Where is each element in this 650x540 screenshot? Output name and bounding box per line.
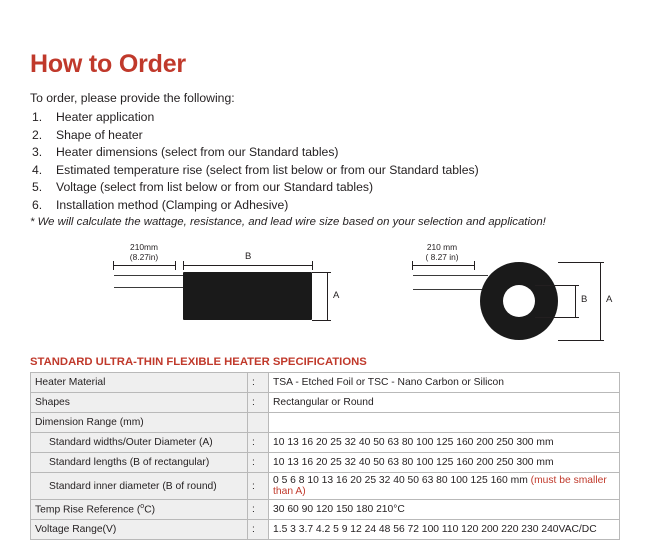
- left-lead-wire-bottom: [114, 287, 184, 288]
- right-lead-wire-bottom: [413, 289, 488, 290]
- row-label-text: Temp Rise Reference (: [35, 505, 140, 516]
- right-lead-dimension-mm: 210 mm: [427, 242, 457, 252]
- table-row: Standard inner diameter (B of round) : 0…: [31, 473, 620, 500]
- list-item-number: 4.: [32, 162, 48, 179]
- left-lead-dimension: 210mm (8.27in): [108, 242, 180, 262]
- list-item-label: Estimated temperature rise (select from …: [56, 163, 479, 177]
- row-colon: :: [248, 433, 269, 453]
- row-label: Standard inner diameter (B of round): [31, 473, 248, 500]
- document-page: How to Order To order, please provide th…: [0, 0, 650, 523]
- list-item-number: 1.: [32, 109, 48, 126]
- left-lead-dimension-in: (8.27in): [130, 252, 158, 262]
- table-row: Standard widths/Outer Diameter (A) : 10 …: [31, 433, 620, 453]
- right-lead-dim-tick-start: [412, 261, 413, 270]
- right-inner-letter-b: B: [581, 294, 587, 305]
- right-lead-dim-tick-end: [474, 261, 475, 270]
- right-lead-dimension-in: ( 8.27 in): [425, 252, 458, 262]
- row-label-tail: C): [144, 505, 155, 516]
- left-b-dim-line: [183, 265, 312, 266]
- row-value-text: 0 5 6 8 10 13 16 20 25 32 40 50 63 80 10…: [273, 475, 528, 486]
- left-a-extension-top: [312, 272, 330, 273]
- row-label: Standard lengths (B of rectangular): [31, 453, 248, 473]
- row-value: 10 13 16 20 25 32 40 50 63 80 100 125 16…: [269, 433, 620, 453]
- right-b-extension-top: [535, 285, 577, 286]
- spec-section-title: STANDARD ULTRA-THIN FLEXIBLE HEATER SPEC…: [30, 356, 620, 368]
- heater-diagram: 210mm (8.27in) B A 210 mm ( 8.27 in): [30, 240, 620, 350]
- left-a-extension-bottom: [312, 320, 330, 321]
- right-a-extension-top: [558, 262, 602, 263]
- list-item-label: Voltage (select from list below or from …: [56, 180, 373, 194]
- row-colon: :: [248, 393, 269, 413]
- list-item-label: Shape of heater: [56, 128, 143, 142]
- row-colon: :: [248, 373, 269, 393]
- left-height-letter-a: A: [333, 290, 339, 301]
- row-value: [269, 413, 620, 433]
- row-label: Heater Material: [31, 373, 248, 393]
- table-row: Temp Rise Reference (oC) : 30 60 90 120 …: [31, 500, 620, 520]
- row-value: 0 5 6 8 10 13 16 20 25 32 40 50 63 80 10…: [269, 473, 620, 500]
- right-b-extension-bottom: [535, 317, 577, 318]
- list-item: 5.Voltage (select from list below or fro…: [30, 179, 620, 196]
- row-value: Rectangular or Round: [269, 393, 620, 413]
- row-colon: :: [248, 473, 269, 500]
- right-b-dim-line: [575, 285, 576, 317]
- left-lead-dimension-mm: 210mm: [130, 242, 158, 252]
- right-a-dim-line: [600, 262, 601, 340]
- left-b-dim-tick-end: [312, 261, 313, 270]
- table-row: Heater Material : TSA - Etched Foil or T…: [31, 373, 620, 393]
- round-heater-inner-hole: [503, 285, 535, 317]
- row-label: Dimension Range (mm): [31, 413, 248, 433]
- right-lead-dim-line: [412, 265, 474, 266]
- table-row: Shapes : Rectangular or Round: [31, 393, 620, 413]
- left-a-dim-line: [327, 272, 328, 320]
- left-width-letter-b: B: [245, 251, 251, 262]
- row-value: TSA - Etched Foil or TSC - Nano Carbon o…: [269, 373, 620, 393]
- right-lead-dimension: 210 mm ( 8.27 in): [402, 242, 482, 262]
- list-item: 1.Heater application: [30, 109, 620, 126]
- row-label: Shapes: [31, 393, 248, 413]
- row-colon: :: [248, 453, 269, 473]
- left-b-dim-tick-start: [183, 261, 184, 270]
- row-colon: :: [248, 500, 269, 520]
- row-colon: [248, 413, 269, 433]
- list-item-number: 3.: [32, 144, 48, 161]
- list-item-number: 2.: [32, 127, 48, 144]
- right-lead-wire-top: [413, 275, 488, 276]
- footnote: * We will calculate the wattage, resista…: [30, 216, 620, 228]
- left-lead-dim-line: [113, 265, 175, 266]
- row-label: Standard widths/Outer Diameter (A): [31, 433, 248, 453]
- list-item-label: Heater application: [56, 110, 154, 124]
- table-row: Standard lengths (B of rectangular) : 10…: [31, 453, 620, 473]
- row-value: 10 13 16 20 25 32 40 50 63 80 100 125 16…: [269, 453, 620, 473]
- right-outer-letter-a: A: [606, 294, 612, 305]
- rectangular-heater-body: [183, 272, 312, 320]
- list-item: 6.Installation method (Clamping or Adhes…: [30, 197, 620, 214]
- right-a-extension-bottom: [558, 340, 602, 341]
- page-title: How to Order: [30, 0, 620, 79]
- list-item-label: Installation method (Clamping or Adhesiv…: [56, 198, 288, 212]
- specifications-table: Heater Material : TSA - Etched Foil or T…: [30, 372, 620, 540]
- list-item-number: 6.: [32, 197, 48, 214]
- left-lead-dim-tick-end: [175, 261, 176, 270]
- list-item-label: Heater dimensions (select from our Stand…: [56, 145, 338, 159]
- row-value: 30 60 90 120 150 180 210°C: [269, 500, 620, 520]
- left-lead-dim-tick-start: [113, 261, 114, 270]
- list-item: 2.Shape of heater: [30, 127, 620, 144]
- intro-text: To order, please provide the following:: [30, 91, 620, 105]
- list-item: 4.Estimated temperature rise (select fro…: [30, 162, 620, 179]
- left-lead-wire-top: [114, 275, 184, 276]
- table-row: Dimension Range (mm): [31, 413, 620, 433]
- list-item-number: 5.: [32, 179, 48, 196]
- order-steps-list: 1.Heater application 2.Shape of heater 3…: [30, 109, 620, 213]
- row-label: Temp Rise Reference (oC): [31, 500, 248, 520]
- list-item: 3.Heater dimensions (select from our Sta…: [30, 144, 620, 161]
